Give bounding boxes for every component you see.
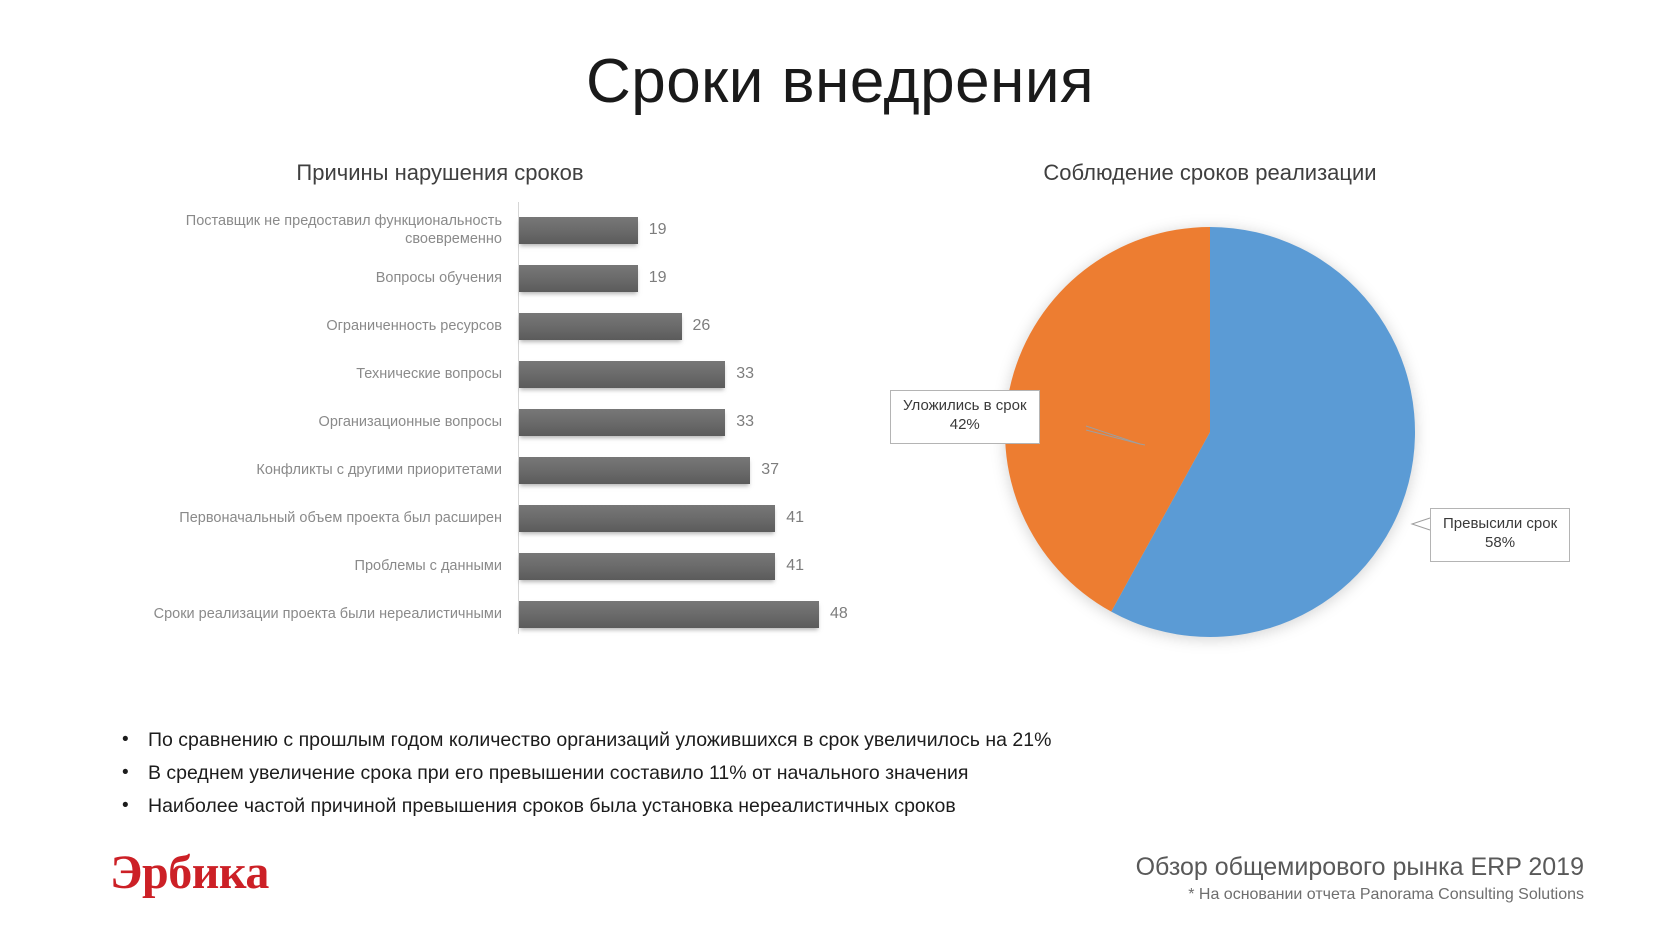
bar-fill xyxy=(519,217,638,244)
bar-chart-row: Конфликты с другими приоритетами37 xyxy=(120,446,900,494)
bar-track: 19 xyxy=(510,254,900,302)
bar-track: 37 xyxy=(510,446,900,494)
pie-chart-graphic: Уложились в срок 42% Превысили срок 58% xyxy=(1000,222,1420,642)
bar-value-label: 37 xyxy=(761,461,779,479)
bar-chart-row: Проблемы с данными41 xyxy=(120,542,900,590)
bar-fill xyxy=(519,457,750,484)
company-logo: Эрбика xyxy=(110,845,269,900)
bar-category-label: Ограниченность ресурсов xyxy=(120,317,510,335)
bar-category-label: Проблемы с данными xyxy=(120,557,510,575)
bar-value-label: 19 xyxy=(649,269,667,287)
footer-source: Обзор общемирового рынка ERP 2019 * На о… xyxy=(1136,852,1584,904)
bar-fill xyxy=(519,505,775,532)
pie-chart-title: Соблюдение сроков реализации xyxy=(900,160,1520,186)
bar-chart-row: Технические вопросы33 xyxy=(120,350,900,398)
pie-callout-on-time-value: 42% xyxy=(903,416,1027,435)
pie-svg xyxy=(1000,222,1420,642)
pie-callout-overrun-label: Превысили срок xyxy=(1443,515,1557,534)
bar-value-label: 26 xyxy=(693,317,711,335)
bullet-list: •По сравнению с прошлым годом количество… xyxy=(122,725,1222,825)
bar-category-label: Организационные вопросы xyxy=(120,413,510,431)
bar-value-label: 41 xyxy=(786,509,804,527)
bullet-marker-icon: • xyxy=(122,791,148,820)
bar-track: 41 xyxy=(510,542,900,590)
bullet-marker-icon: • xyxy=(122,725,148,754)
bar-track: 26 xyxy=(510,302,900,350)
bar-chart-title: Причины нарушения сроков xyxy=(120,160,760,186)
bar-value-label: 19 xyxy=(649,221,667,239)
bar-chart-row: Организационные вопросы33 xyxy=(120,398,900,446)
bar-value-label: 33 xyxy=(736,413,754,431)
bar-category-label: Вопросы обучения xyxy=(120,269,510,287)
bar-chart-row: Первоначальный объем проекта был расшире… xyxy=(120,494,900,542)
pie-callout-on-time: Уложились в срок 42% xyxy=(890,390,1040,444)
footer-note: * На основании отчета Panorama Consultin… xyxy=(1136,886,1584,904)
bar-fill xyxy=(519,601,819,628)
bar-value-label: 41 xyxy=(786,557,804,575)
bar-category-label: Первоначальный объем проекта был расшире… xyxy=(120,509,510,527)
bar-fill xyxy=(519,553,775,580)
pie-callout-on-time-label: Уложились в срок xyxy=(903,397,1027,416)
bullet-text: По сравнению с прошлым годом количество … xyxy=(148,725,1051,755)
bar-track: 19 xyxy=(510,206,900,254)
bar-category-label: Поставщик не предоставил функциональност… xyxy=(120,212,510,248)
bullet-item: • Наиболее частой причиной превышения ср… xyxy=(122,791,1222,821)
bullet-text: Наиболее частой причиной превышения срок… xyxy=(148,791,956,821)
bar-category-label: Технические вопросы xyxy=(120,365,510,383)
bar-track: 41 xyxy=(510,494,900,542)
bullet-marker-icon: • xyxy=(122,758,148,787)
bar-chart-row: Вопросы обучения19 xyxy=(120,254,900,302)
bar-fill xyxy=(519,265,638,292)
bar-category-label: Конфликты с другими приоритетами xyxy=(120,461,510,479)
bar-chart-row: Поставщик не предоставил функциональност… xyxy=(120,206,900,254)
bar-chart-panel: Причины нарушения сроков Поставщик не пр… xyxy=(120,160,900,660)
pie-callout-overrun: Превысили срок 58% xyxy=(1430,508,1570,562)
bar-value-label: 48 xyxy=(830,605,848,623)
pie-callout-overrun-value: 58% xyxy=(1443,534,1557,553)
footer-title: Обзор общемирового рынка ERP 2019 xyxy=(1136,852,1584,883)
slide-title: Сроки внедрения xyxy=(0,48,1680,116)
bar-chart-plot: Поставщик не предоставил функциональност… xyxy=(120,202,900,652)
bullet-item: •По сравнению с прошлым годом количество… xyxy=(122,725,1222,755)
bar-category-label: Сроки реализации проекта были нереалисти… xyxy=(120,605,510,623)
bullet-text: В среднем увеличение срока при его превы… xyxy=(148,758,968,788)
bar-chart-row: Сроки реализации проекта были нереалисти… xyxy=(120,590,900,638)
pie-chart-panel: Соблюдение сроков реализации Уложились в… xyxy=(900,160,1660,660)
bullet-item: •В среднем увеличение срока при его прев… xyxy=(122,758,1222,788)
bar-fill xyxy=(519,313,682,340)
bar-fill xyxy=(519,409,725,436)
bar-track: 33 xyxy=(510,350,900,398)
bar-chart-row: Ограниченность ресурсов26 xyxy=(120,302,900,350)
bar-track: 33 xyxy=(510,398,900,446)
bar-value-label: 33 xyxy=(736,365,754,383)
bar-track: 48 xyxy=(510,590,900,638)
bar-fill xyxy=(519,361,725,388)
